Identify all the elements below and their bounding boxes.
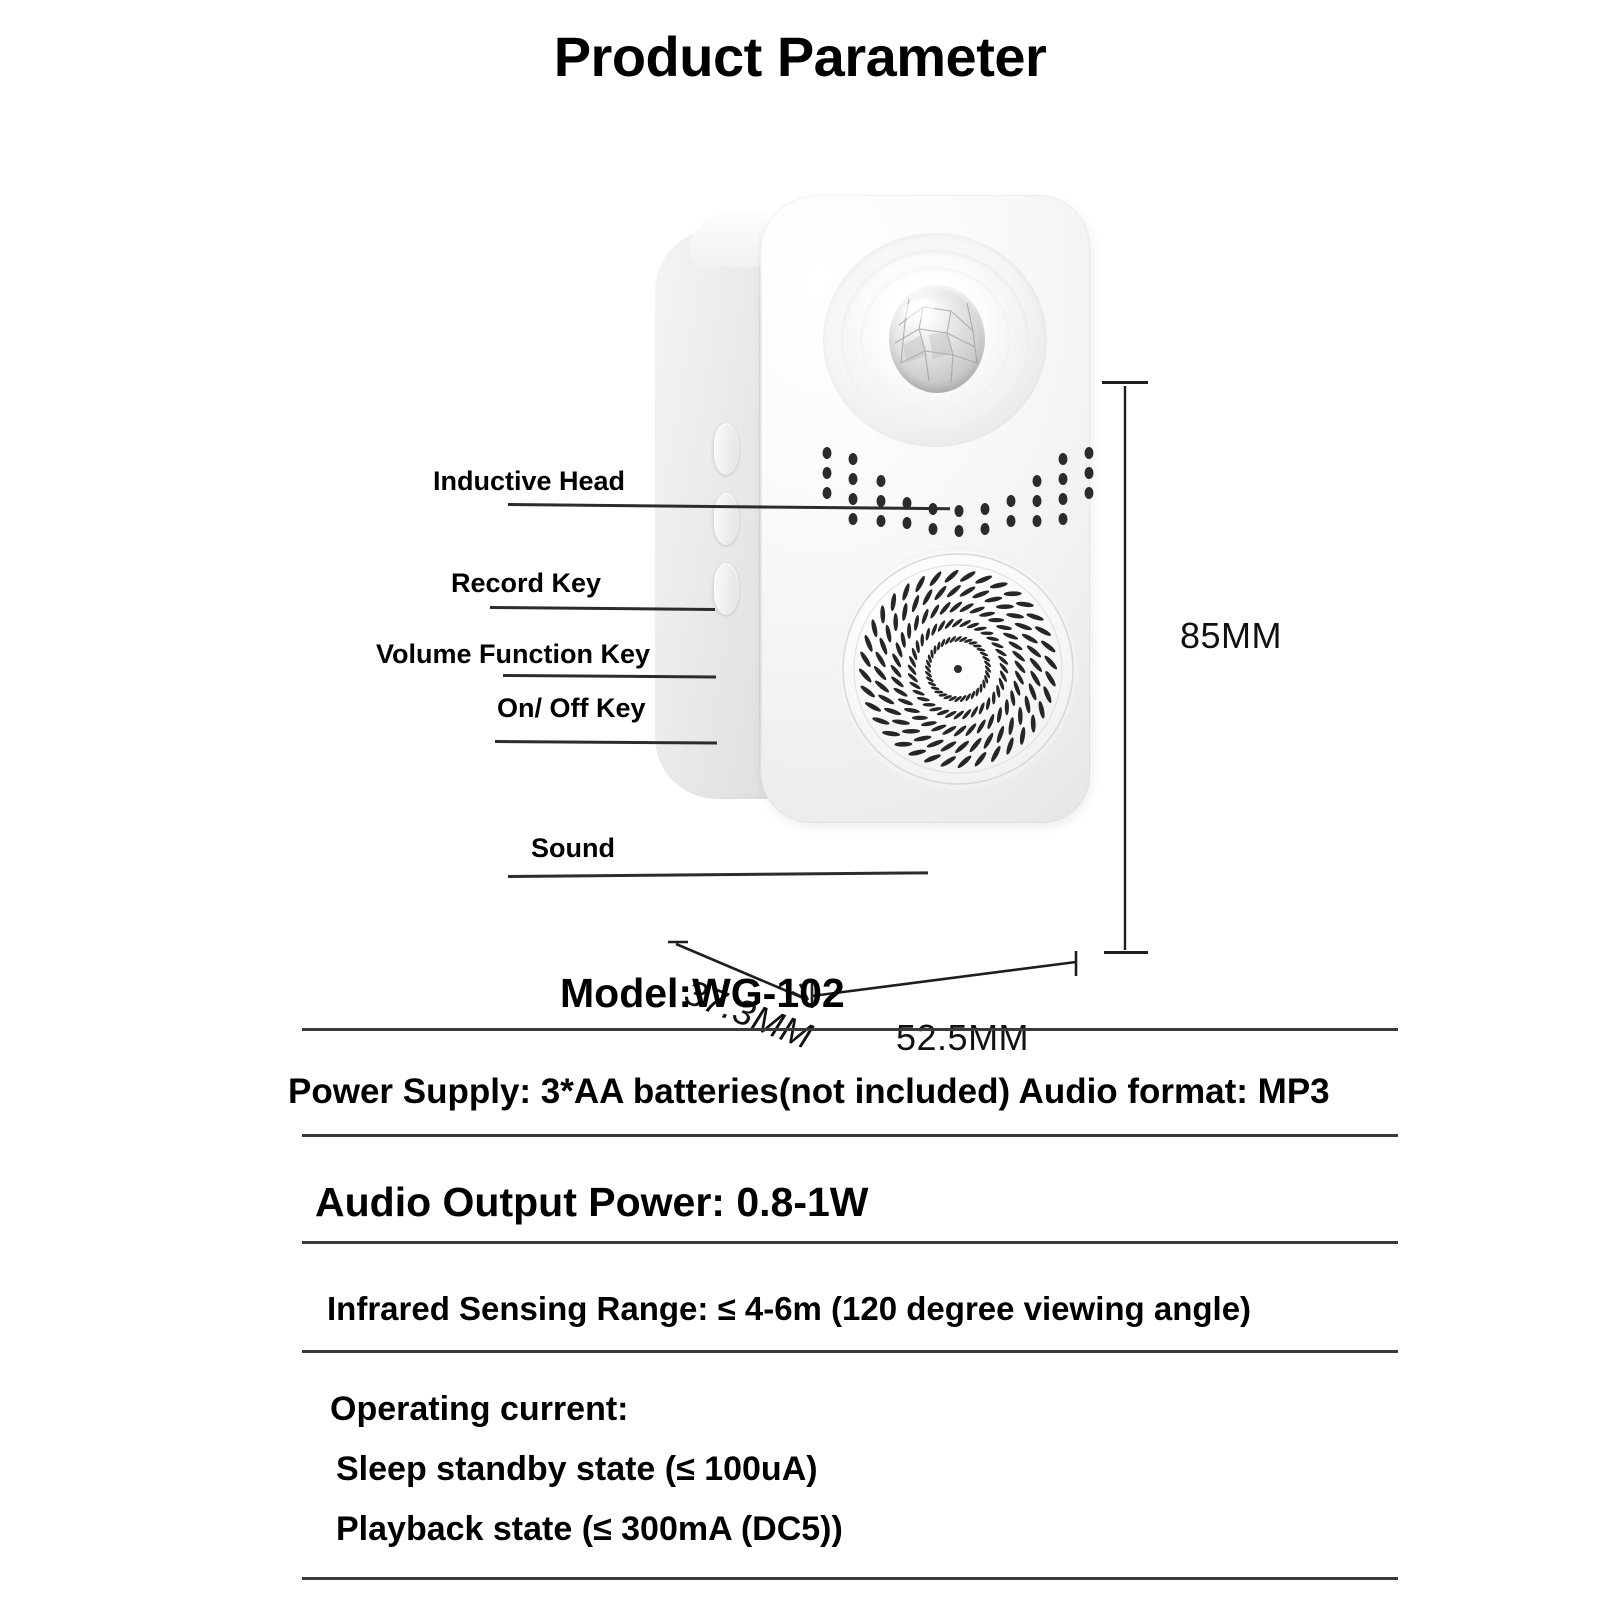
callout-label-sound: Sound	[531, 833, 615, 864]
device-edge-seam	[759, 219, 762, 803]
callout-label-volume-function-key: Volume Function Key	[376, 639, 650, 670]
dimension-label-height: 85MM	[1180, 615, 1282, 657]
speaker-grille	[838, 547, 1078, 791]
microphone-vent-dots	[805, 443, 1105, 553]
spec-divider-4	[302, 1350, 1398, 1353]
on-off-key-button[interactable]	[713, 563, 739, 615]
spec-divider-3	[302, 1241, 1398, 1244]
leader-line-volume-function-key	[503, 674, 716, 678]
record-key-button[interactable]	[713, 423, 739, 475]
spec-divider-1	[302, 1028, 1398, 1031]
dimension-label-width: 52.5MM	[896, 1017, 1029, 1059]
dimension-cap-height-top	[1102, 381, 1148, 384]
page-title: Product Parameter	[0, 24, 1600, 89]
leader-line-on-off-key	[495, 740, 717, 745]
callout-label-on-off-key: On/ Off Key	[497, 693, 646, 724]
spec-operating-current-title: Operating current:	[330, 1390, 628, 1429]
callout-label-inductive-head: Inductive Head	[433, 466, 625, 497]
dimension-line-width	[804, 950, 1084, 1010]
spec-audio-output-power: Audio Output Power: 0.8-1W	[315, 1179, 868, 1226]
callout-label-record-key: Record Key	[451, 568, 601, 599]
volume-function-key-button[interactable]	[713, 493, 739, 545]
spec-operating-current-playback: Playback state (≤ 300mA (DC5))	[336, 1510, 843, 1549]
spec-infrared-sensing-range: Infrared Sensing Range: ≤ 4-6m (120 degr…	[327, 1290, 1251, 1328]
spec-model: Model:WG-102	[560, 970, 845, 1017]
dimension-line-height	[1122, 382, 1128, 954]
inductive-head-pir-dome	[889, 285, 985, 393]
leader-line-record-key	[490, 606, 715, 611]
spec-divider-5	[302, 1577, 1398, 1580]
spec-operating-current-sleep: Sleep standby state (≤ 100uA)	[336, 1450, 818, 1489]
device-body	[655, 195, 1095, 825]
spec-divider-2	[302, 1134, 1398, 1137]
leader-line-sound	[508, 871, 928, 878]
product-illustration: Inductive Head Record Key Volume Functio…	[0, 150, 1600, 940]
spec-power-supply: Power Supply: 3*AA batteries(not include…	[288, 1072, 1330, 1112]
dimension-cap-height-bottom	[1104, 951, 1148, 954]
